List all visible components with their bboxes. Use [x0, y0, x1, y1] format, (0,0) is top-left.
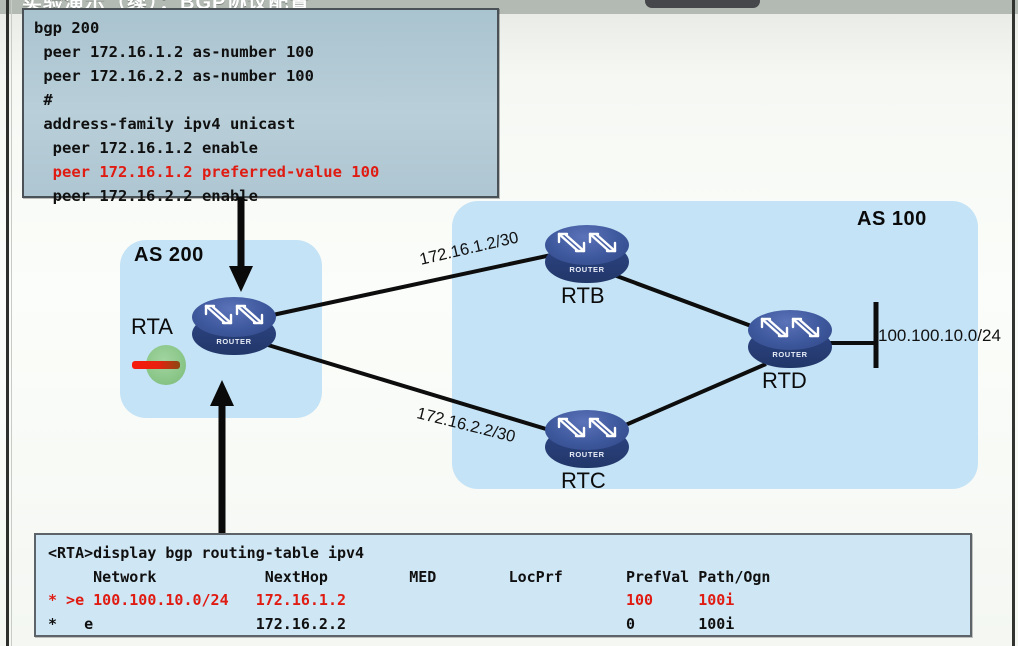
config-line: bgp 200: [34, 16, 497, 40]
router-rtc-label: RTC: [561, 468, 606, 494]
router-tag: ROUTER: [545, 265, 629, 274]
terminal-header: Network NextHop MED LocPrf PrefVal Path/…: [48, 566, 970, 590]
router-rtc[interactable]: ROUTER: [545, 410, 629, 472]
left-border-rail: [6, 0, 9, 646]
config-line: address-family ipv4 unicast: [34, 112, 497, 136]
as-100-label: AS 100: [857, 208, 927, 231]
config-line: peer 172.16.2.2 enable: [34, 184, 497, 208]
router-rtd-label: RTD: [762, 368, 807, 394]
router-tag: ROUTER: [748, 350, 832, 359]
bgp-configuration-box: bgp 200 peer 172.16.1.2 as-number 100 pe…: [22, 8, 499, 198]
lan-subnet-label: 100.100.10.0/24: [878, 326, 1001, 346]
router-tag: ROUTER: [545, 450, 629, 459]
router-arrows-icon: [201, 301, 267, 331]
router-rta[interactable]: ROUTER: [192, 297, 276, 359]
bgp-routing-table-box: <RTA>display bgp routing-table ipv4 Netw…: [34, 533, 972, 637]
router-tag: ROUTER: [192, 337, 276, 346]
left-border-rail-inner: [11, 0, 12, 646]
bgp-routing-table-text: <RTA>display bgp routing-table ipv4 Netw…: [36, 535, 970, 636]
table-row: * e 172.16.2.2 0 100i: [48, 613, 970, 637]
router-arrows-icon: [757, 314, 823, 344]
table-row: * >e 100.100.10.0/24 172.16.1.2 100 100i: [48, 589, 970, 613]
player-control-bar[interactable]: [645, 0, 760, 8]
router-arrows-icon: [554, 229, 620, 259]
config-line: peer 172.16.1.2 as-number 100: [34, 40, 497, 64]
terminal-command: <RTA>display bgp routing-table ipv4: [48, 542, 970, 566]
router-rtb-label: RTB: [561, 283, 605, 309]
as-200-label: AS 200: [134, 244, 204, 267]
router-rtb[interactable]: ROUTER: [545, 225, 629, 287]
bgp-configuration-text: bgp 200 peer 172.16.1.2 as-number 100 pe…: [24, 10, 497, 208]
laser-pointer-line: [132, 361, 180, 369]
router-arrows-icon: [554, 414, 620, 444]
right-border-rail: [1012, 0, 1015, 646]
slide-canvas: 实验演示（续）：BGP协议配置 bgp 200 peer 172.16.1.2 …: [0, 0, 1018, 646]
config-line-highlight: peer 172.16.1.2 preferred-value 100: [34, 160, 497, 184]
config-line: peer 172.16.1.2 enable: [34, 136, 497, 160]
config-line: #: [34, 88, 497, 112]
router-rtd[interactable]: ROUTER: [748, 310, 832, 372]
config-line: peer 172.16.2.2 as-number 100: [34, 64, 497, 88]
router-rta-label: RTA: [131, 314, 173, 340]
